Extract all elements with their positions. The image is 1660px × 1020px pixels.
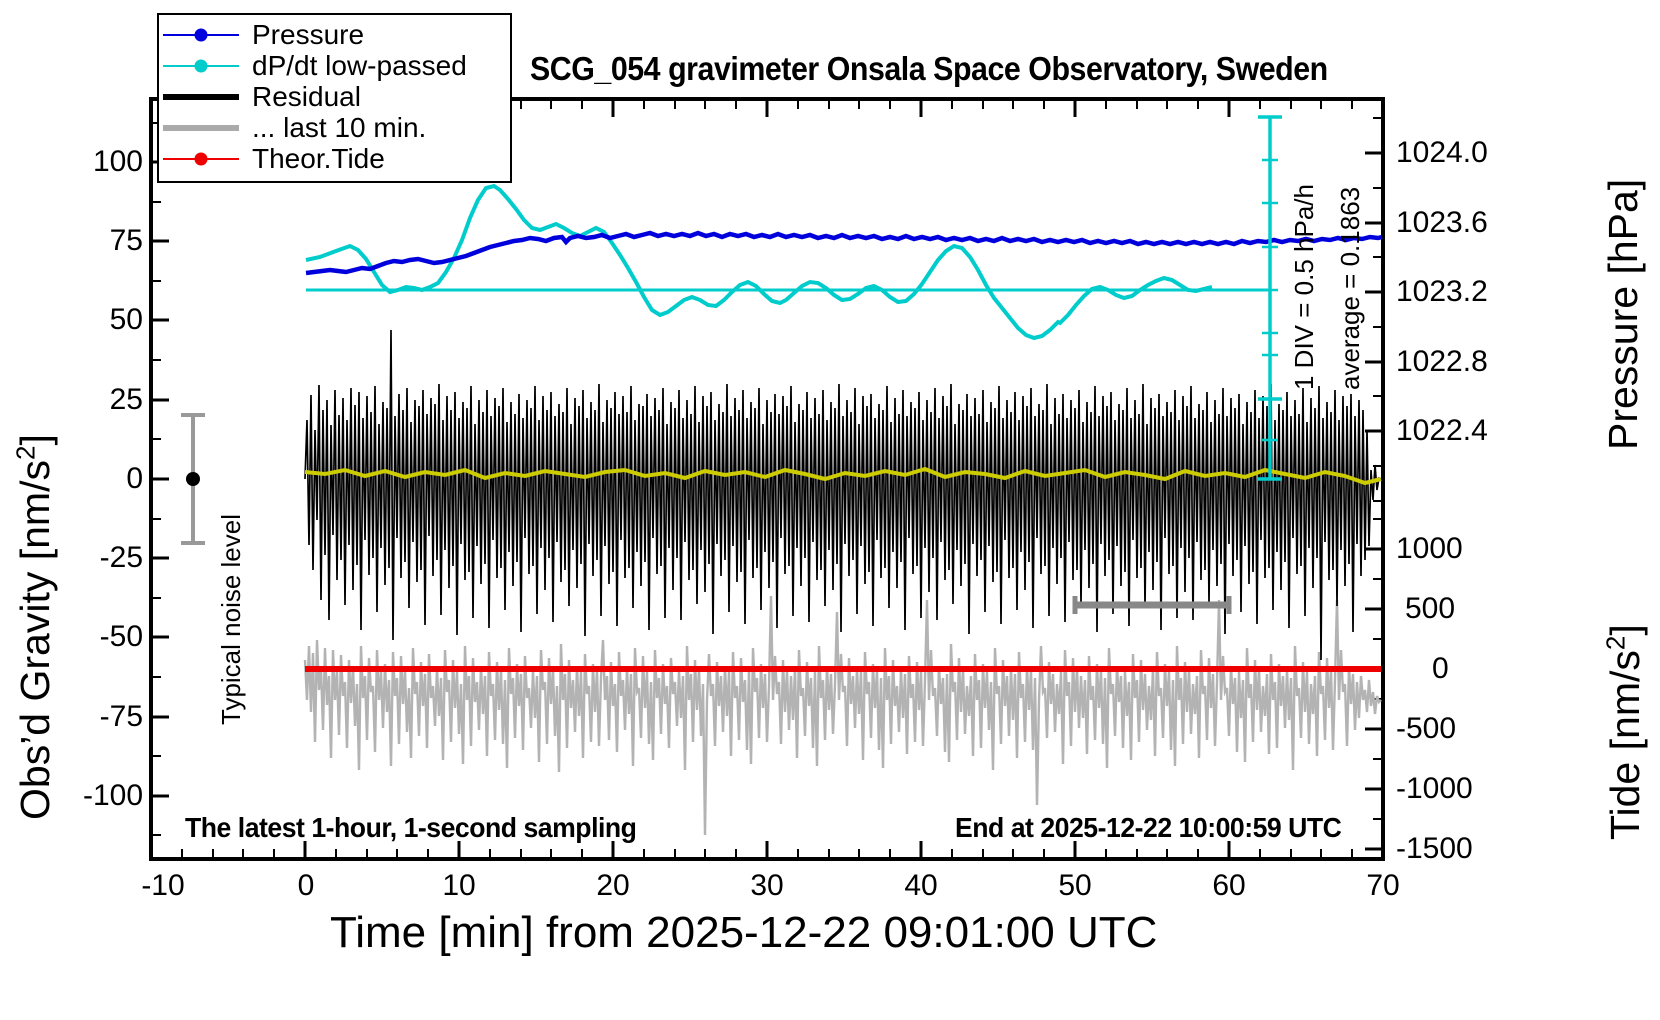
x-tick-label: 20 (588, 869, 638, 903)
y-tick-label-tide: 1000 (1396, 532, 1463, 566)
dpdt-average-label: average = 0.1863 (1335, 187, 1366, 390)
legend-swatch-last10 (159, 112, 243, 143)
x-tick-label: 10 (434, 869, 484, 903)
chart-page: SCG_054 gravimeter Onsala Space Observat… (0, 0, 1660, 1020)
y-tick-label-left: 25 (43, 383, 143, 417)
legend-label: ... last 10 min. (243, 112, 426, 144)
legend-label: Theor.Tide (243, 143, 385, 175)
legend-swatch-residual (159, 81, 243, 112)
y-tick-label-left: -50 (43, 620, 143, 654)
y-tick-label-tide: -1000 (1396, 772, 1473, 806)
y-tick-label-tide: 0 (1432, 652, 1449, 686)
legend[interactable]: Pressure dP/dt low-passed Residual ... l… (157, 13, 512, 183)
y-tick-label-left: 50 (43, 303, 143, 337)
legend-item[interactable]: Residual (159, 81, 510, 112)
legend-item[interactable]: dP/dt low-passed (159, 50, 510, 81)
y-tick-label-left: 75 (43, 224, 143, 258)
typical-noise-level-label: Typical noise level (216, 514, 247, 725)
y-tick-label-pressure: 1022.8 (1396, 345, 1488, 379)
y-tick-label-pressure: 1022.4 (1396, 414, 1488, 448)
div-scale-label: 1 DIV = 0.5 hPa/h (1289, 184, 1320, 390)
x-tick-label: 40 (896, 869, 946, 903)
legend-item[interactable]: Pressure (159, 19, 510, 50)
y-tick-label-pressure: 1023.2 (1396, 275, 1488, 309)
x-tick-label: 70 (1358, 869, 1408, 903)
y-tick-label-left: -25 (43, 541, 143, 575)
legend-label: Residual (243, 81, 361, 113)
y-tick-label-left: -100 (43, 779, 143, 813)
x-tick-label: 50 (1050, 869, 1100, 903)
legend-item[interactable]: ... last 10 min. (159, 112, 510, 143)
x-tick-label: 60 (1204, 869, 1254, 903)
legend-swatch-dpdt (159, 50, 243, 81)
series-last-10-min (305, 596, 1381, 835)
end-time-note: End at 2025-12-22 10:00:59 UTC (955, 812, 1341, 844)
legend-swatch-pressure (159, 19, 243, 50)
y-tick-label-tide: 500 (1405, 592, 1455, 626)
y-tick-label-left: 100 (43, 145, 143, 179)
legend-item[interactable]: Theor.Tide (159, 143, 510, 174)
sampling-note: The latest 1-hour, 1-second sampling (185, 812, 636, 844)
y-tick-label-left: 0 (43, 462, 143, 496)
series-pressure (306, 233, 1382, 273)
y-tick-label-tide: -500 (1396, 712, 1456, 746)
x-tick-label: 30 (742, 869, 792, 903)
typical-noise-level-bar (181, 415, 205, 543)
legend-label: Pressure (243, 19, 364, 51)
y-tick-label-pressure: 1023.6 (1396, 206, 1488, 240)
y-tick-label-left: -75 (43, 700, 143, 734)
legend-label: dP/dt low-passed (243, 50, 467, 82)
x-tick-label: -10 (133, 869, 193, 903)
y-tick-label-tide: -1500 (1396, 832, 1473, 866)
legend-swatch-tide (159, 143, 243, 174)
x-tick-label: 0 (288, 869, 324, 903)
y-tick-label-pressure: 1024.0 (1396, 136, 1488, 170)
y-axis-left-ticks (151, 123, 169, 835)
